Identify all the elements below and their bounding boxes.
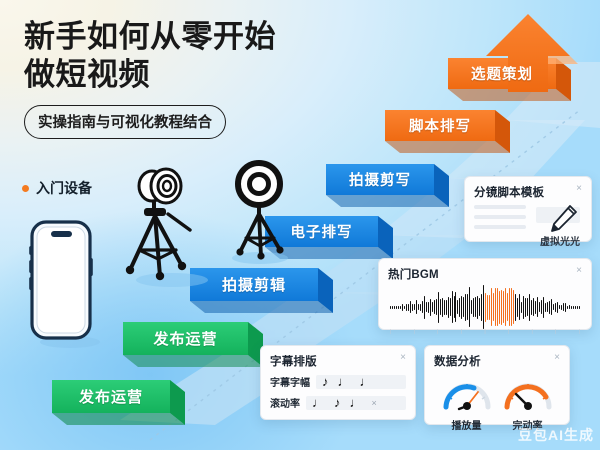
card-title: 字幕排版 — [270, 353, 317, 369]
bullet-dot-icon — [22, 185, 29, 192]
waveform-bar — [495, 288, 496, 326]
close-icon[interactable]: × — [554, 353, 560, 363]
music-note-icon: ♩ — [312, 396, 325, 409]
waveform-bar — [493, 293, 494, 321]
axis-tick: | — [390, 329, 391, 335]
waveform-bar — [471, 300, 472, 314]
waveform-bar — [529, 294, 530, 321]
waveform-bar — [575, 306, 576, 309]
waveform-bar — [416, 300, 417, 314]
waveform-bar — [561, 305, 562, 310]
waveform-bar — [517, 298, 518, 317]
waveform-bar — [418, 304, 419, 310]
waveform-bar — [452, 291, 453, 323]
waveform-bar — [557, 302, 558, 313]
entry-device-label: 入门设备 — [22, 178, 92, 198]
close-icon[interactable]: × — [576, 266, 582, 276]
subtitle-row-1[interactable]: 字幕字幅 ♪ ♩ ♩ — [270, 374, 406, 389]
entry-device-text: 入门设备 — [36, 178, 92, 198]
card-header: 分镜脚本模板 × — [474, 184, 582, 200]
waveform-bar — [446, 300, 447, 315]
waveform-bar — [559, 305, 560, 309]
watermark: 豆包AI生成 — [518, 425, 594, 445]
waveform-bar — [531, 300, 532, 315]
page-title-line-1: 新手如何从零开始 — [24, 18, 276, 56]
waveform-bar — [408, 304, 409, 311]
axis-tick: | — [555, 329, 556, 335]
card-title: 热门BGM — [388, 266, 439, 282]
waveform-bar — [505, 288, 506, 326]
waveform-bar — [527, 298, 528, 316]
waveform-bar — [436, 299, 437, 315]
card-subtitle-layout[interactable]: 字幕排版 × 字幕字幅 ♪ ♩ ♩ 滚动率 ♩ ♪ ♩ × — [260, 345, 416, 420]
waveform-bar — [503, 291, 504, 323]
waveform-bar — [571, 306, 572, 309]
waveform-bar — [507, 293, 508, 321]
close-icon[interactable]: × — [576, 184, 582, 194]
placeholder-line — [474, 225, 526, 229]
waveform-bar — [414, 304, 415, 310]
card-body: 虚拟光光 — [474, 205, 582, 247]
axis-tick: | — [437, 329, 438, 335]
waveform-bar — [535, 301, 536, 314]
placeholder-line — [474, 205, 526, 209]
waveform-bar — [434, 300, 435, 314]
waveform-bar — [573, 306, 574, 309]
waveform-bar — [533, 298, 534, 316]
row-track[interactable]: ♪ ♩ ♩ — [316, 375, 406, 389]
waveform-bar — [491, 288, 492, 326]
waveform-bar — [555, 303, 556, 312]
waveform-bar — [477, 296, 478, 319]
ring-light-tripod-illustration — [216, 158, 302, 268]
card-caption: 虚拟光光 — [540, 233, 580, 248]
gauge-plays[interactable]: 播放量 — [441, 375, 493, 432]
waveform-bar — [547, 302, 548, 312]
waveform-bar — [406, 304, 407, 311]
music-note-icon: ♪ — [334, 396, 341, 409]
card-header: 热门BGM × — [388, 266, 582, 282]
axis-tick: | — [414, 329, 415, 335]
waveform-bar — [565, 303, 566, 312]
card-header: 字幕排版 × — [270, 353, 406, 369]
music-note-icon: ♪ — [322, 375, 329, 388]
card-title: 分镜脚本模板 — [474, 184, 544, 200]
step-block-1[interactable] — [52, 380, 185, 425]
waveform-bar — [567, 306, 568, 309]
waveform-bar — [424, 296, 425, 319]
row-label: 滚动率 — [270, 395, 300, 410]
waveform-bar — [525, 298, 526, 317]
waveform-bar — [465, 294, 466, 321]
step-block-6[interactable] — [385, 110, 510, 153]
waveform-bar — [430, 299, 431, 316]
waveform-bar — [499, 291, 500, 324]
waveform-bar — [461, 296, 462, 319]
title-block: 新手如何从零开始 做短视频 实操指南与可视化教程结合 — [24, 18, 276, 139]
waveform-bar — [541, 300, 542, 314]
step-block-2[interactable] — [123, 322, 263, 367]
music-note-icon: ♩ — [360, 375, 373, 388]
axis-tick: | — [531, 329, 532, 335]
waveform-bar — [398, 306, 399, 309]
axis-tick: | — [461, 329, 462, 335]
waveform-bar — [438, 292, 439, 323]
infographic-canvas: 新手如何从零开始 做短视频 实操指南与可视化教程结合 入门设备 — [0, 0, 600, 450]
waveform-bar — [473, 298, 474, 317]
step-block-5[interactable] — [326, 164, 449, 207]
waveform-bar — [440, 299, 441, 315]
waveform-bar — [448, 297, 449, 318]
waveform-bar — [563, 303, 564, 311]
waveform-bar — [501, 290, 502, 325]
waveform-bar — [390, 306, 391, 309]
pencil-icon[interactable] — [548, 203, 578, 237]
music-note-icon: ♩ — [338, 375, 351, 388]
waveform-bar — [426, 302, 427, 312]
waveform-bar — [475, 297, 476, 317]
audio-waveform[interactable] — [388, 287, 582, 327]
waveform-bar — [442, 298, 443, 317]
page-title-line-2: 做短视频 — [24, 56, 276, 94]
waveform-bar — [537, 297, 538, 317]
waveform-bar — [455, 292, 456, 322]
axis-tick: | — [579, 329, 580, 335]
waveform-bar — [444, 300, 445, 315]
waveform-bar — [577, 306, 578, 309]
waveform-bar — [483, 285, 484, 329]
waveform-bar — [394, 306, 395, 309]
step-block-7-arrow[interactable] — [448, 14, 578, 101]
gauge-caption: 播放量 — [441, 417, 493, 432]
subtitle-pill: 实操指南与可视化教程结合 — [24, 105, 226, 139]
remove-icon[interactable]: × — [372, 398, 377, 408]
studio-light-tripod-illustration — [110, 162, 214, 290]
waveform-bar — [422, 301, 423, 313]
card-storyboard-template[interactable]: 分镜脚本模板 × 虚拟光光 — [464, 176, 592, 242]
card-data-analytics[interactable]: 数据分析 × 播放量 — [424, 345, 570, 425]
waveform-bar — [469, 287, 470, 327]
waveform-bar — [392, 306, 393, 309]
waveform-bar — [404, 306, 405, 309]
waveform-bar — [497, 288, 498, 326]
waveform-bar — [396, 306, 397, 309]
waveform-bar — [428, 302, 429, 313]
waveform-bar — [457, 300, 458, 314]
waveform-bar — [519, 294, 520, 320]
waveform-bar — [545, 303, 546, 312]
waveform-bar — [400, 306, 401, 309]
waveform-bar — [539, 302, 540, 312]
waveform-bar — [481, 294, 482, 321]
subtitle-row-2[interactable]: 滚动率 ♩ ♪ ♩ × — [270, 395, 406, 410]
waveform-bar — [489, 295, 490, 320]
card-header: 数据分析 × — [434, 353, 560, 369]
waveform-bar — [543, 297, 544, 318]
card-title: 数据分析 — [434, 353, 481, 369]
axis-tick: | — [508, 329, 509, 335]
waveform-bar — [549, 301, 550, 314]
close-icon[interactable]: × — [400, 353, 406, 363]
waveform-bar — [467, 294, 468, 320]
music-note-icon: ♩ — [350, 396, 363, 409]
waveform-bar — [509, 288, 510, 326]
waveform-bar — [579, 306, 580, 309]
gauge-completion[interactable]: 完动率 — [502, 375, 554, 432]
waveform-bar — [487, 295, 488, 320]
waveform-bar — [412, 304, 413, 311]
waveform-bar — [485, 293, 486, 322]
waveform-axis: | | | | | | | | | — [388, 327, 582, 335]
gauge-group: 播放量 完动率 — [434, 374, 560, 432]
waveform-bar — [553, 304, 554, 310]
waveform-bar — [402, 304, 403, 311]
waveform-bar — [410, 301, 411, 313]
waveform-bar — [521, 302, 522, 313]
row-label: 字幕字幅 — [270, 374, 310, 389]
waveform-bar — [513, 290, 514, 324]
waveform-bar — [551, 299, 552, 315]
waveform-bar — [463, 297, 464, 317]
smartphone-illustration — [24, 218, 102, 350]
card-hot-bgm[interactable]: 热门BGM × | | | | | | | | | — [378, 258, 592, 330]
row-track[interactable]: ♩ ♪ ♩ × — [306, 396, 406, 410]
waveform-bar — [450, 298, 451, 316]
waveform-bar — [479, 298, 480, 316]
waveform-bar — [569, 305, 570, 309]
waveform-bar — [515, 294, 516, 321]
waveform-bar — [459, 298, 460, 317]
waveform-bar — [454, 296, 455, 318]
waveform-bar — [523, 296, 524, 319]
waveform-bar — [420, 304, 421, 311]
placeholder-line — [474, 215, 526, 219]
waveform-bar — [511, 288, 512, 326]
axis-tick: | — [484, 329, 485, 335]
waveform-bar — [432, 302, 433, 312]
